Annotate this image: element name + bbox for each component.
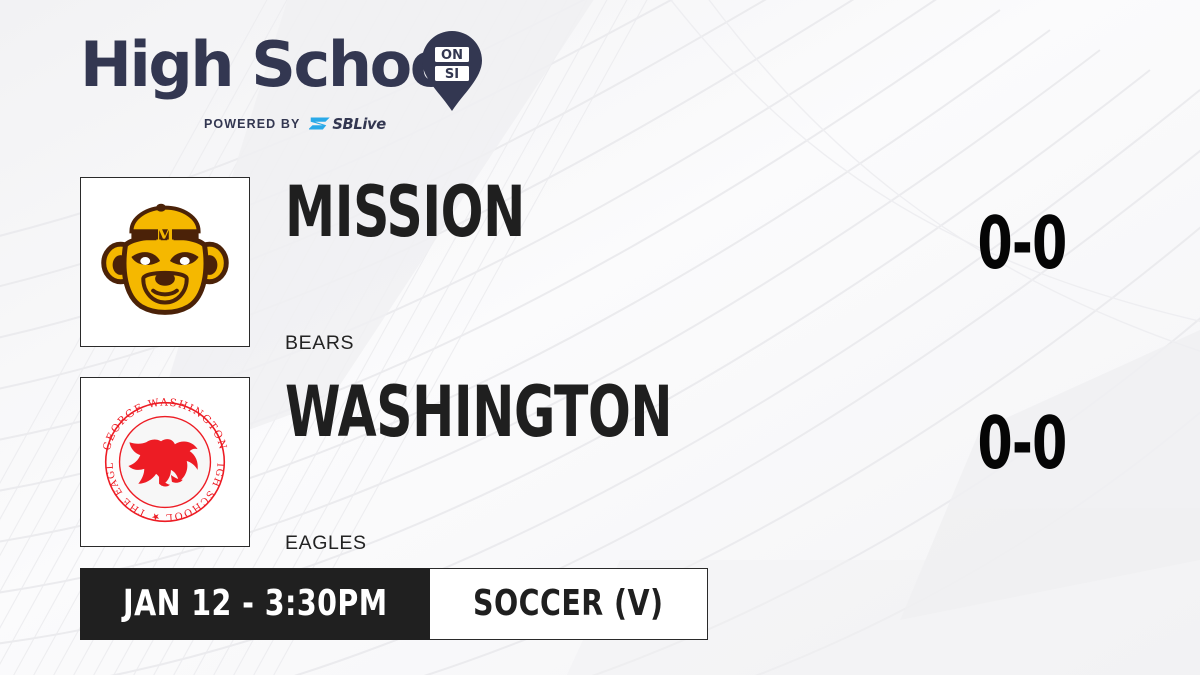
sblive-logo-icon: SBLive bbox=[309, 114, 416, 133]
powered-by-lockup: POWERED BY SBLive bbox=[204, 114, 417, 133]
mission-bears-logo-icon: M bbox=[81, 178, 249, 346]
game-datetime-label: JAN 12 - 3:30PM bbox=[123, 586, 387, 622]
team-name: MISSION bbox=[285, 180, 781, 244]
team-text-block: MISSION BEARS bbox=[285, 177, 905, 244]
game-info-banner: JAN 12 - 3:30PM SOCCER (V) bbox=[80, 568, 708, 640]
team-score-value: 0-0 bbox=[978, 207, 1067, 279]
team-name: WASHINGTON bbox=[285, 380, 781, 444]
pin-text-si: SI bbox=[445, 67, 459, 82]
svg-text:M: M bbox=[156, 224, 175, 244]
powered-by-label: POWERED BY bbox=[204, 117, 300, 131]
team-text-block: WASHINGTON EAGLES bbox=[285, 377, 905, 444]
game-sport-label: SOCCER (V) bbox=[473, 586, 663, 622]
brand-lockup: High School ON SI POWERED BY SBLive bbox=[80, 34, 510, 134]
team-mascot: EAGLES bbox=[285, 532, 367, 555]
on-si-pin-icon: ON SI bbox=[421, 30, 483, 112]
game-datetime-chip: JAN 12 - 3:30PM bbox=[80, 568, 430, 640]
washington-eagles-seal-logo-icon: GEORGE WASHINGTON HIGH SCHOOL ★ THE EAGL… bbox=[81, 378, 249, 546]
pin-text-on: ON bbox=[441, 48, 463, 63]
team-score-value: 0-0 bbox=[978, 407, 1067, 479]
team-score: 0-0 bbox=[925, 207, 1120, 279]
game-sport-chip: SOCCER (V) bbox=[430, 568, 708, 640]
team-score: 0-0 bbox=[925, 407, 1120, 479]
team-logo-washington: GEORGE WASHINGTON HIGH SCHOOL ★ THE EAGL… bbox=[80, 377, 250, 547]
team-logo-mission: M bbox=[80, 177, 250, 347]
brand-wordmark: High School bbox=[80, 34, 469, 96]
sblive-wordmark: SBLive bbox=[333, 116, 387, 133]
team-mascot: BEARS bbox=[285, 332, 354, 355]
